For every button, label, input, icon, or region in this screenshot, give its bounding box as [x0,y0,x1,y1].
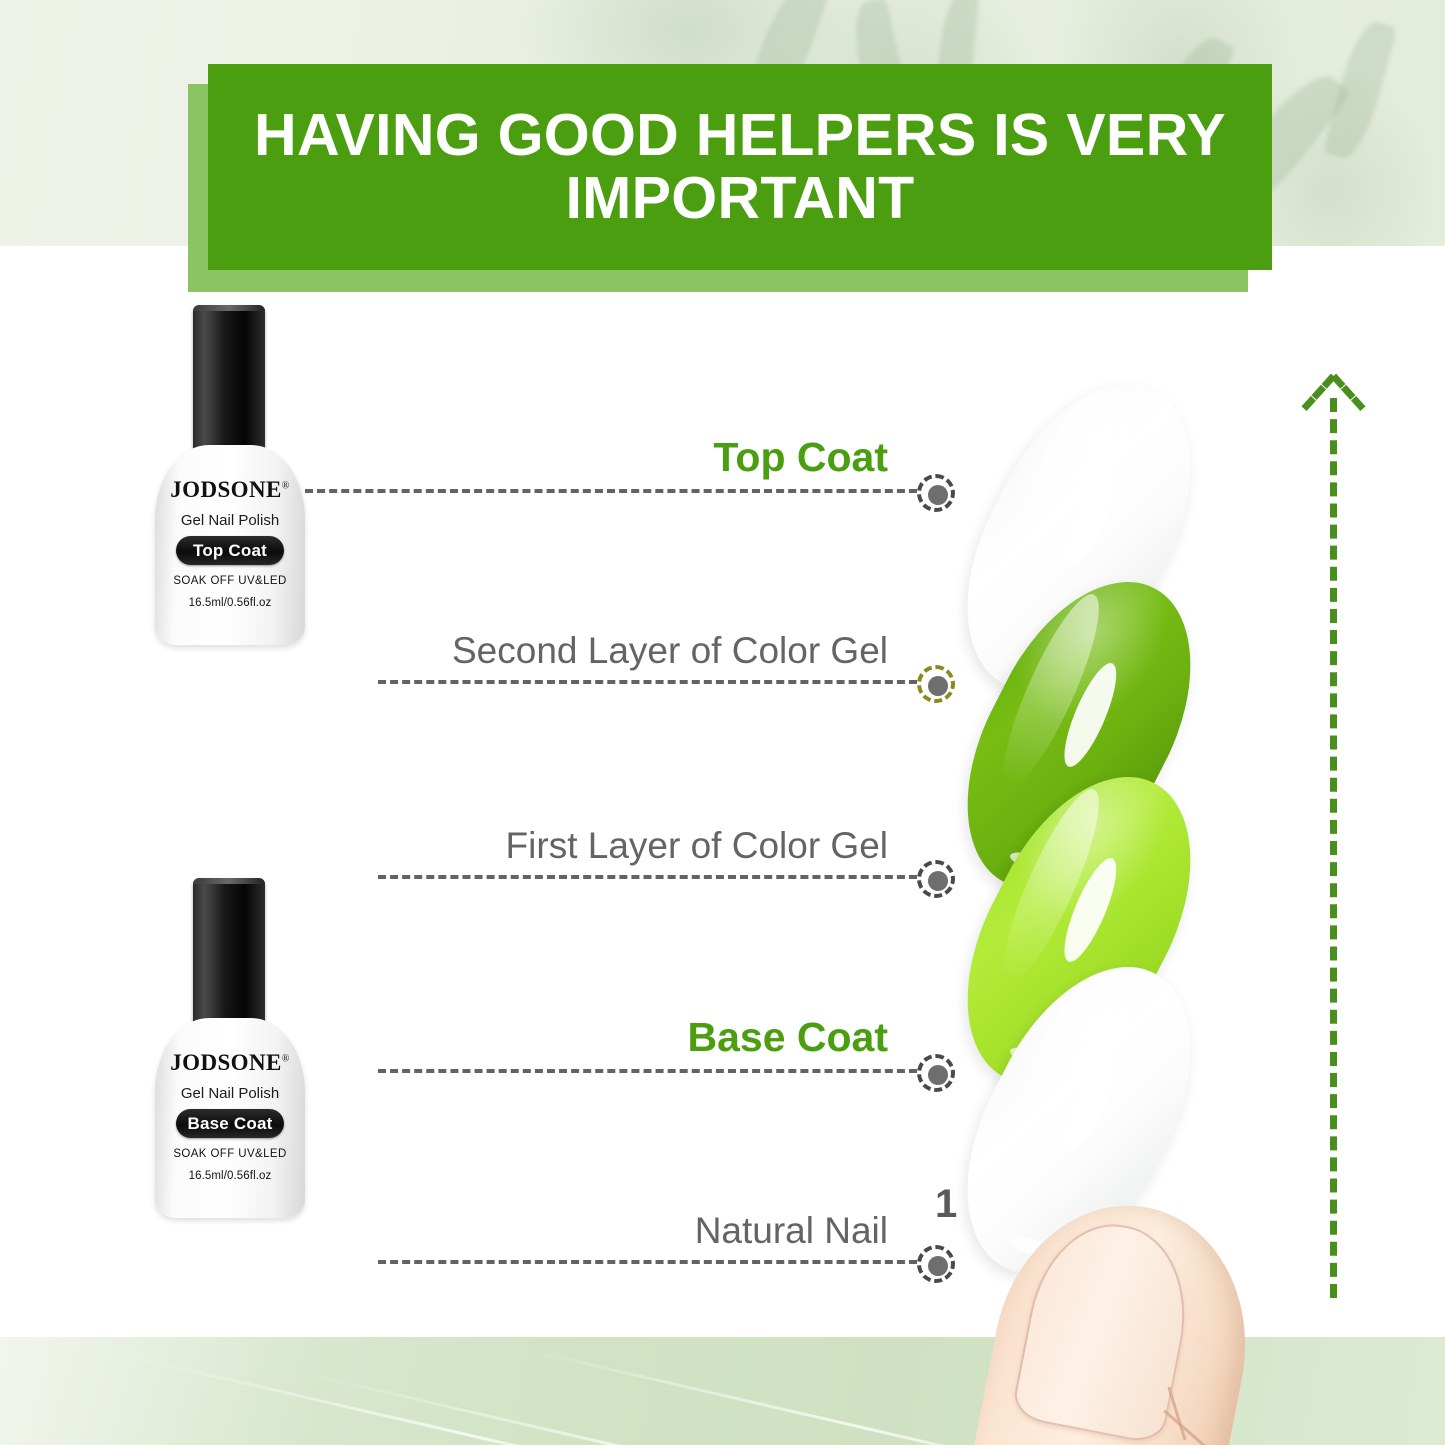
callout-marker-dot [917,1054,955,1092]
bottle-variant-text: Top Coat [193,541,267,561]
callout-dashed-line [378,1260,917,1264]
bottle-volume: 16.5ml/0.56fl.oz [155,597,305,609]
leaf-streak [120,1353,822,1445]
callout-label: Natural Nail [695,1210,888,1252]
bottle-brand: JODSONE® [155,477,305,503]
callout-marker-dot [917,860,955,898]
callout-dashed-line [378,1069,917,1073]
registered-trademark-icon: ® [282,480,290,491]
bottle-cure-info: SOAK OFF UV&LED [155,1148,305,1160]
callout-dashed-line [378,680,917,684]
bottle-product-type: Gel Nail Polish [155,1085,305,1102]
natural-nail-plate [1010,1211,1201,1445]
bottle-variant-badge: Base Coat [176,1109,284,1138]
callout-marker-dot [917,665,955,703]
arrow-stem [1330,398,1337,1298]
bottle-variant-text: Base Coat [188,1114,273,1134]
marker-core [928,871,948,891]
callout-dashed-line [378,875,917,879]
marker-core [928,1065,948,1085]
callout-dashed-line [305,489,917,493]
callout-label: Base Coat [687,1014,888,1061]
bottle-brand: JODSONE® [155,1050,305,1076]
bottle-volume: 16.5ml/0.56fl.oz [155,1170,305,1182]
marker-core [928,676,948,696]
marker-core [928,485,948,505]
bottle-cure-info: SOAK OFF UV&LED [155,575,305,587]
upward-order-arrow-icon [1306,376,1360,1306]
callout-marker-dot [917,474,955,512]
step-number: 1 [935,1182,957,1227]
callout-label: Top Coat [713,434,888,481]
bottle-cap [193,878,265,1030]
bottle-variant-badge: Top Coat [176,536,284,565]
bottle-brand-text: JODSONE [170,477,281,502]
marker-core [928,1256,948,1276]
bottle-product-type: Gel Nail Polish [155,512,305,529]
bottle-brand-text: JODSONE [170,1050,281,1075]
knuckle-crease [1163,1409,1218,1445]
infographic-canvas: HAVING GOOD HELPERS IS VERY IMPORTANT JO… [0,0,1445,1445]
bottle-cap [193,305,265,457]
callout-marker-dot [917,1245,955,1283]
page-title: HAVING GOOD HELPERS IS VERY IMPORTANT [229,104,1250,229]
registered-trademark-icon: ® [282,1053,290,1064]
callout-label: Second Layer of Color Gel [452,630,888,672]
header-banner: HAVING GOOD HELPERS IS VERY IMPORTANT [208,64,1272,270]
callout-label: First Layer of Color Gel [506,825,888,867]
